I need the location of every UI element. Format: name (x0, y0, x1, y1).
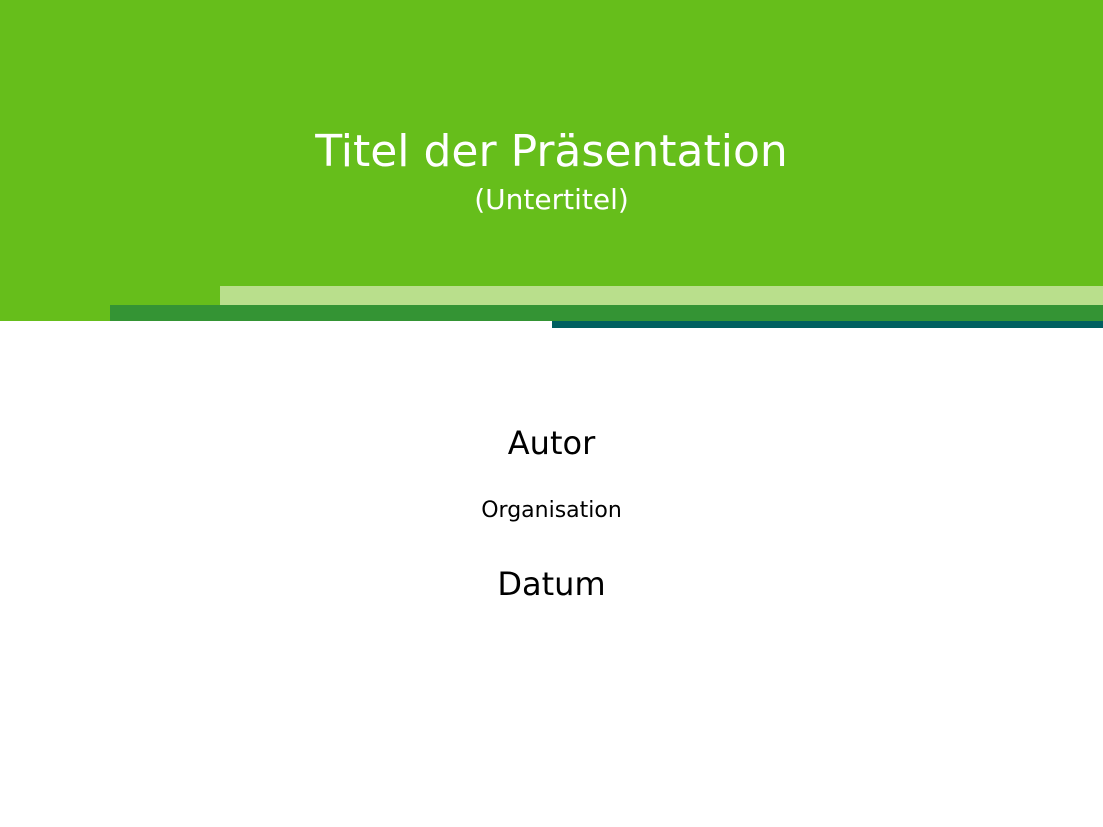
organisation-text[interactable]: Organisation (0, 498, 1103, 524)
presentation-title-slide: Titel der Präsentation (Untertitel) Auto… (0, 0, 1103, 827)
decorative-bar-teal (552, 321, 1103, 328)
title-placeholder[interactable]: Titel der Präsentation (Untertitel) (0, 128, 1103, 218)
decorative-bar-light-green (220, 286, 1103, 305)
author-text[interactable]: Autor (0, 424, 1103, 462)
credits-placeholder[interactable]: Autor Organisation Datum (0, 424, 1103, 603)
slide-title[interactable]: Titel der Präsentation (0, 128, 1103, 176)
slide-subtitle[interactable]: (Untertitel) (0, 182, 1103, 218)
decorative-bar-dark-green (110, 305, 1103, 321)
date-text[interactable]: Datum (0, 565, 1103, 603)
